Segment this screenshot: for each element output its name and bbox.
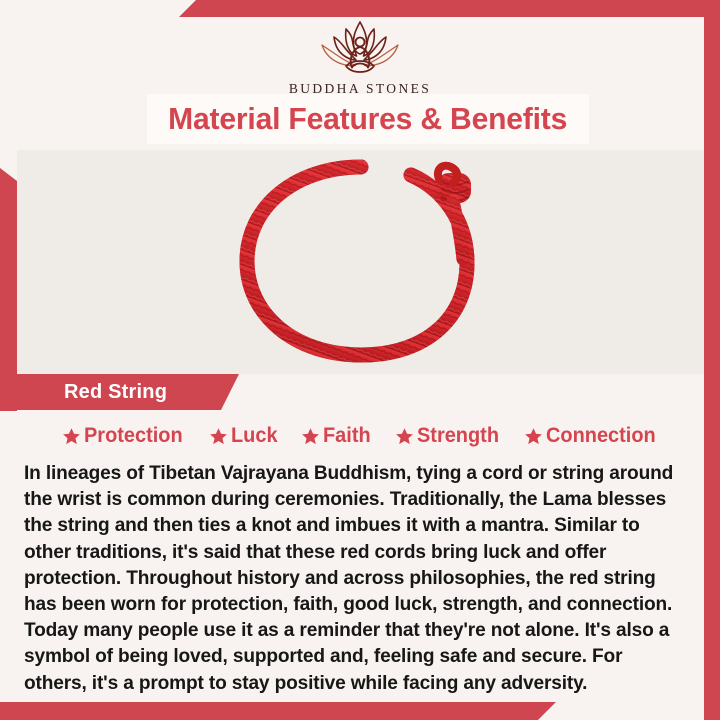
red-string-bracelet-icon	[231, 157, 491, 367]
lotus-meditation-icon	[307, 16, 413, 78]
star-icon	[395, 427, 414, 446]
product-name-label: Red String	[64, 381, 167, 404]
benefit-label: Connection	[546, 424, 656, 448]
benefit-label: Faith	[323, 424, 371, 448]
benefit-item-faith: Faith	[301, 424, 373, 448]
benefit-label: Luck	[231, 424, 278, 448]
left-red-bar	[0, 168, 17, 411]
page-title: Material Features & Benefits	[169, 101, 568, 137]
top-red-band	[0, 0, 720, 17]
infographic-page: BUDDHA STONES Material Features & Benefi…	[0, 0, 720, 720]
product-image	[17, 150, 704, 374]
brand-logo: BUDDHA STONES	[0, 16, 720, 97]
benefit-label: Protection	[84, 424, 183, 448]
benefit-item-luck: Luck	[209, 424, 280, 448]
product-name-banner: Red String	[17, 374, 239, 410]
title-plate: Material Features & Benefits	[147, 94, 589, 144]
description-text: In lineages of Tibetan Vajrayana Buddhis…	[24, 460, 684, 696]
benefit-item-strength: Strength	[395, 424, 503, 448]
benefit-label: Strength	[417, 424, 499, 448]
benefit-item-connection: Connection	[524, 424, 662, 448]
right-red-bar	[704, 17, 720, 720]
benefits-row: Protection Luck Faith Strength Connectio…	[24, 420, 696, 452]
bottom-red-band	[0, 702, 600, 720]
benefit-item-protection: Protection	[62, 424, 188, 448]
star-icon	[209, 427, 228, 446]
star-icon	[524, 427, 543, 446]
star-icon	[62, 427, 81, 446]
star-icon	[301, 427, 320, 446]
